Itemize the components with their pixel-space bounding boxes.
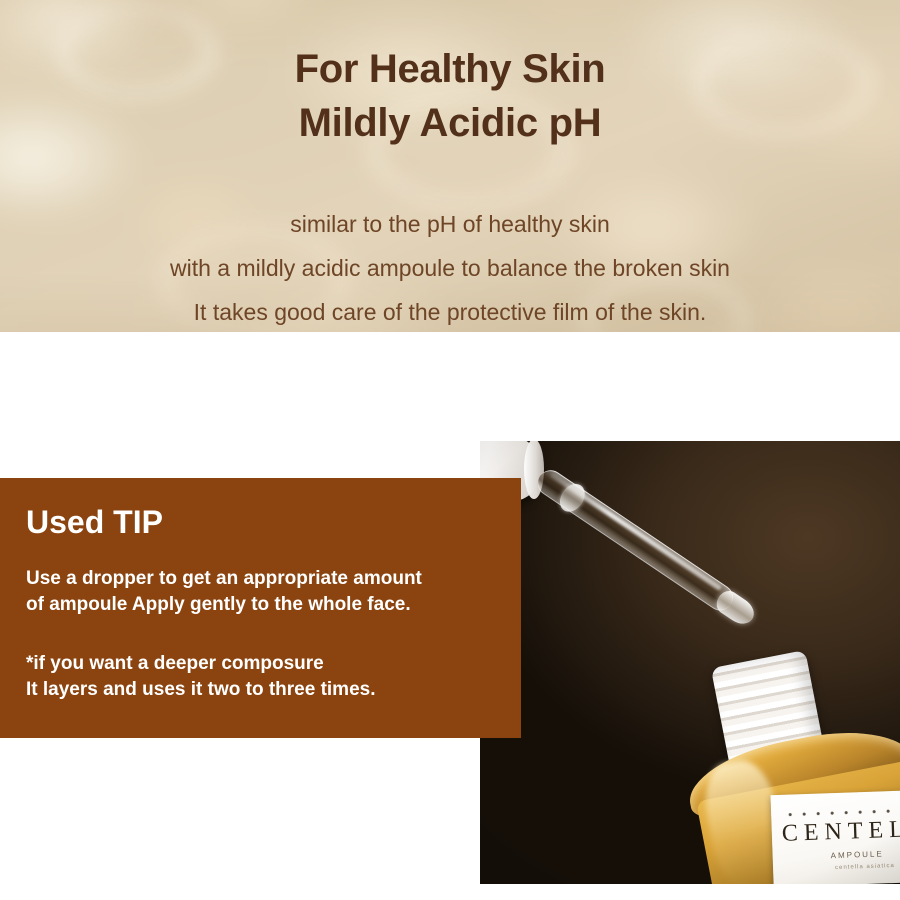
used-tip-note: *if you want a deeper composure It layer… <box>26 651 376 703</box>
hero-subtitle-line-2: with a mildly acidic ampoule to balance … <box>170 246 730 290</box>
used-tip-body-line-1: Use a dropper to get an appropriate amou… <box>26 566 422 592</box>
hero-subtitle-line-3: It takes good care of the protective fil… <box>170 290 730 332</box>
used-tip-panel: Used TIP Use a dropper to get an appropr… <box>0 478 521 738</box>
bottle-label: CENTELLA AMPOULE centella asiatica <box>771 789 900 884</box>
page-title: For Healthy Skin Mildly Acidic pH <box>295 42 606 151</box>
label-fine-print: centella asiatica <box>835 863 895 871</box>
hero-subtitle: similar to the pH of healthy skin with a… <box>170 202 730 332</box>
label-product-name: CENTELLA <box>781 815 900 848</box>
product-photo: CENTELLA AMPOULE centella asiatica <box>480 441 900 884</box>
hero-text-block: For Healthy Skin Mildly Acidic pH simila… <box>0 0 900 332</box>
hero-subtitle-line-1: similar to the pH of healthy skin <box>170 202 730 246</box>
label-product-type: AMPOULE <box>831 849 884 860</box>
used-tip-note-line-2: It layers and uses it two to three times… <box>26 677 376 703</box>
used-tip-body: Use a dropper to get an appropriate amou… <box>26 566 422 618</box>
usage-section: CENTELLA AMPOULE centella asiatica Used … <box>0 332 900 900</box>
used-tip-body-line-2: of ampoule Apply gently to the whole fac… <box>26 592 422 618</box>
page-title-line-1: For Healthy Skin <box>295 47 606 91</box>
used-tip-note-line-1: *if you want a deeper composure <box>26 651 376 677</box>
used-tip-heading: Used TIP <box>26 504 163 541</box>
hero-banner: For Healthy Skin Mildly Acidic pH simila… <box>0 0 900 332</box>
page-title-line-2: Mildly Acidic pH <box>299 101 602 145</box>
